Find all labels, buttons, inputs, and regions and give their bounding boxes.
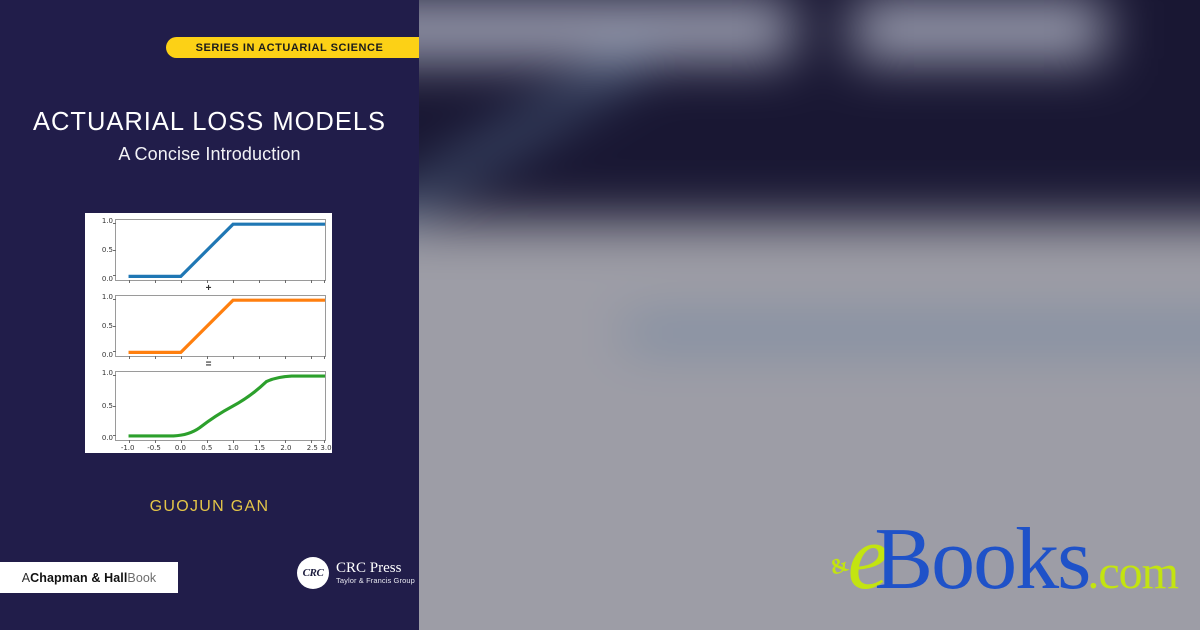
panel1-ytick-label-1: 1.0 (91, 217, 113, 225)
series-badge-label: SERIES IN ACTUARIAL SCIENCE (196, 42, 390, 54)
backdrop-blue-flat-right (625, 325, 1200, 341)
panel3-ytick-label-1: 1.0 (91, 369, 113, 377)
xtick-label-3: 0.0 (175, 444, 186, 452)
panel3-ytick-label-3: 0.0 (91, 434, 113, 442)
crc-badge-icon: CRC (297, 557, 329, 589)
panel3-plot-area (115, 371, 326, 441)
operator-plus: + (89, 281, 328, 295)
panel1-series-line (116, 220, 325, 280)
panel1-ytick-label-3: 0.0 (91, 275, 113, 283)
xtick-label-5: 1.0 (228, 444, 239, 452)
book-subtitle: A Concise Introduction (0, 144, 419, 165)
backdrop-word-3 (854, 1, 1104, 59)
chart-x-axis-labels: -1.0 -0.5 0.0 0.5 1.0 1.5 2.0 2.5 3.0 (115, 441, 326, 455)
author-name: GUOJUN GAN (0, 498, 419, 516)
watermark-com: .com (1087, 549, 1178, 597)
cover-figure: 1.0 0.5 0.0 + 1.0 0.5 0.0 (85, 213, 332, 453)
chart-panel-3: 1.0 0.5 0.0 (89, 371, 328, 441)
xtick-label-1: -1.0 (121, 444, 135, 452)
chart-panel-2: 1.0 0.5 0.0 (89, 295, 328, 357)
xtick-label-8: 2.5 (307, 444, 318, 452)
panel1-ytick-label-2: 0.5 (91, 246, 113, 254)
imprint-prefix: A (22, 571, 30, 585)
chapman-hall-imprint: A Chapman & Hall Book (0, 562, 178, 593)
watermark-books: Books (874, 516, 1089, 604)
crc-press-group: Taylor & Francis Group (336, 577, 415, 585)
panel3-series-line (116, 372, 325, 440)
chart-panel-1: 1.0 0.5 0.0 (89, 219, 328, 281)
panel2-plot-area (115, 295, 326, 357)
ebooks-com-watermark: & e Books .com (835, 511, 1178, 604)
title-block: ACTUARIAL LOSS MODELS A Concise Introduc… (0, 108, 419, 165)
xtick-label-7: 2.0 (280, 444, 291, 452)
book-cover[interactable]: SERIES IN ACTUARIAL SCIENCE ACTUARIAL LO… (0, 0, 419, 630)
panel2-ytick-label-3: 0.0 (91, 351, 113, 359)
xtick-label-9: 3.0 (320, 444, 331, 452)
operator-equals: = (89, 357, 328, 371)
panel2-ytick-label-1: 1.0 (91, 293, 113, 301)
screenshot-root: SERIES IN ACTUARIAL SCIENCE ACTUARIAL LO… (0, 0, 1200, 630)
crc-press-logo: CRC CRC Press Taylor & Francis Group (297, 557, 415, 589)
panel3-ytick-label-2: 0.5 (91, 402, 113, 410)
book-title: ACTUARIAL LOSS MODELS (0, 108, 419, 136)
panel2-ytick-label-2: 0.5 (91, 322, 113, 330)
panel2-series-line (116, 296, 325, 356)
xtick-label-6: 1.5 (254, 444, 265, 452)
crc-text-block: CRC Press Taylor & Francis Group (336, 561, 415, 585)
xtick-label-2: -0.5 (147, 444, 161, 452)
series-badge: SERIES IN ACTUARIAL SCIENCE (166, 37, 419, 58)
imprint-suffix: Book (127, 571, 156, 585)
xtick-label-4: 0.5 (201, 444, 212, 452)
crc-press-name: CRC Press (336, 561, 415, 577)
panel1-plot-area (115, 219, 326, 281)
imprint-name: Chapman & Hall (30, 571, 127, 585)
